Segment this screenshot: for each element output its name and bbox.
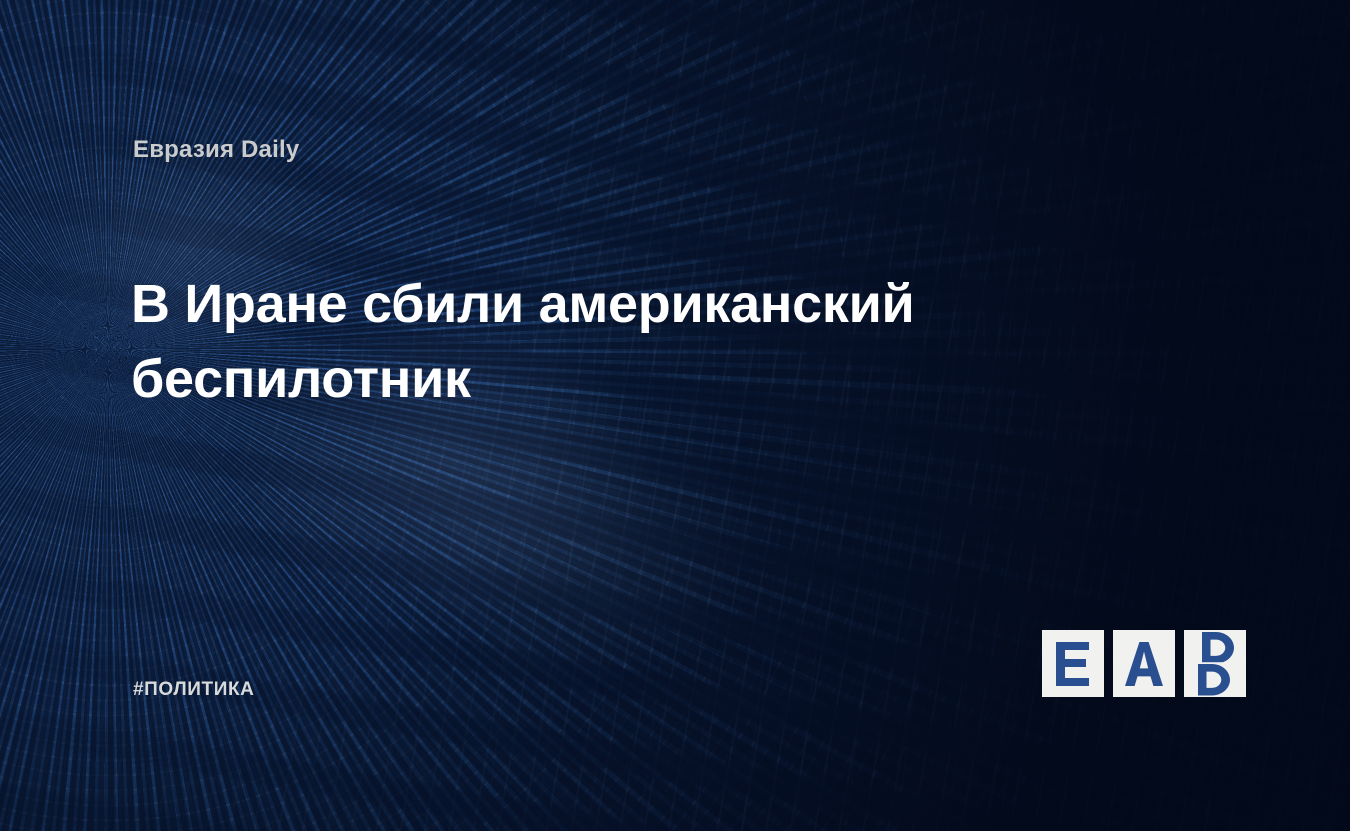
page-title: В Иране сбили американский беспилотник bbox=[131, 267, 961, 416]
eadaily-logo[interactable] bbox=[1042, 630, 1246, 697]
brand-name: Евразия Daily bbox=[133, 136, 299, 164]
letter-e-icon bbox=[1056, 642, 1090, 686]
logo-tile-d bbox=[1184, 630, 1246, 697]
letter-d-split-icon bbox=[1192, 630, 1238, 697]
news-share-card: Евразия Daily В Иране сбили американский… bbox=[0, 0, 1350, 831]
letter-a-icon bbox=[1125, 642, 1163, 686]
card-content: Евразия Daily В Иране сбили американский… bbox=[0, 0, 1350, 831]
logo-tile-e bbox=[1042, 630, 1104, 697]
category-hashtag[interactable]: #ПОЛИТИКА bbox=[133, 679, 255, 701]
logo-tile-a bbox=[1113, 630, 1175, 697]
